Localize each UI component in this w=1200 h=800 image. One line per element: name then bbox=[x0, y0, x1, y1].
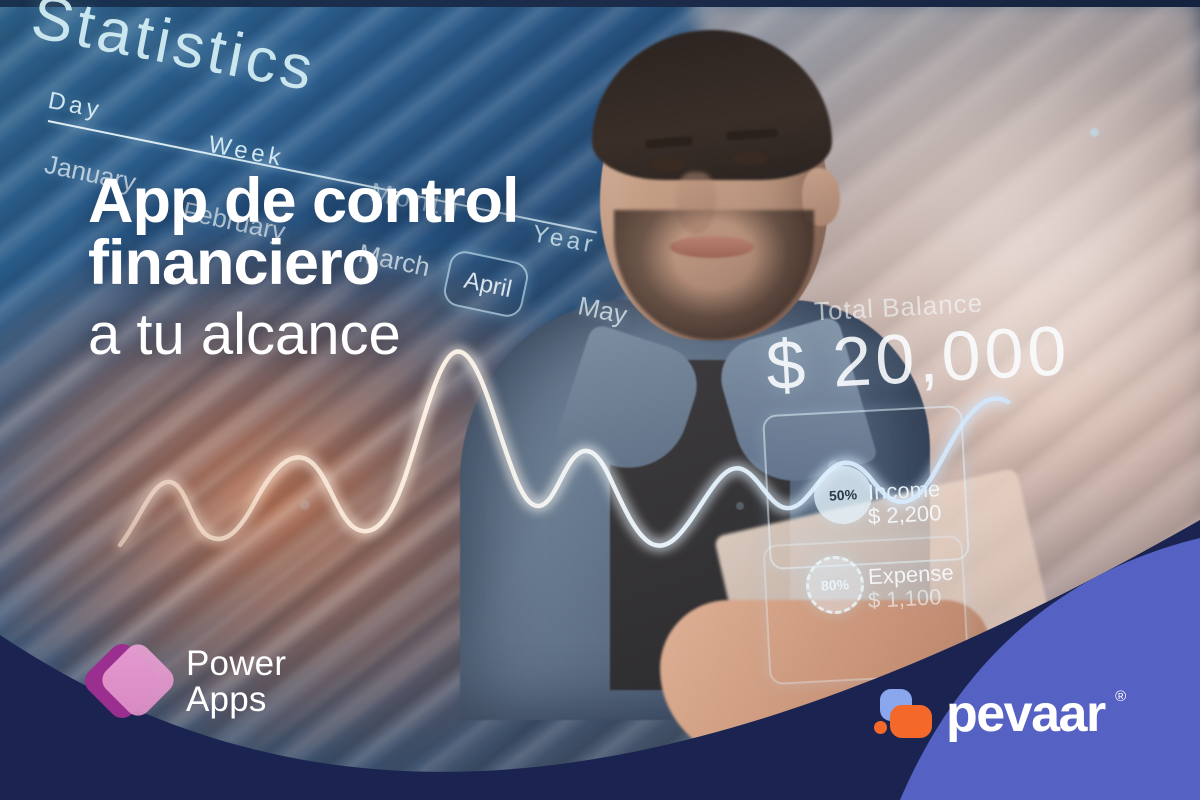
headline-line-3: a tu alcance bbox=[88, 305, 708, 366]
powerapps-logo: Power Apps bbox=[92, 645, 286, 719]
pevaar-wordmark: pevaar ® bbox=[946, 684, 1105, 744]
pevaar-block-orange bbox=[890, 705, 932, 738]
powerapps-word-apps: Apps bbox=[186, 682, 286, 718]
pevaar-word-text: pevaar bbox=[946, 685, 1105, 743]
pevaar-dot-orange bbox=[874, 721, 887, 734]
pevaar-blocks-icon bbox=[874, 689, 930, 739]
headline-block: App de control financiero a tu alcance bbox=[88, 170, 708, 366]
hud-tab-day[interactable]: Day bbox=[46, 87, 105, 125]
hud-particle bbox=[1090, 128, 1099, 137]
bottom-curved-shapes bbox=[0, 460, 1200, 800]
powerapps-diamond-icon bbox=[92, 645, 166, 719]
promo-banner: Statistics Day Week Month Year January F… bbox=[0, 0, 1200, 800]
hud-total-balance-value: $ 20,000 bbox=[764, 310, 1072, 406]
pevaar-registered-mark: ® bbox=[1115, 688, 1125, 705]
headline-line-2: financiero bbox=[88, 232, 708, 294]
pevaar-logo: pevaar ® bbox=[874, 684, 1105, 744]
headline-line-1: App de control bbox=[88, 170, 708, 232]
powerapps-word-power: Power bbox=[186, 646, 286, 682]
powerapps-wordmark: Power Apps bbox=[186, 646, 286, 718]
